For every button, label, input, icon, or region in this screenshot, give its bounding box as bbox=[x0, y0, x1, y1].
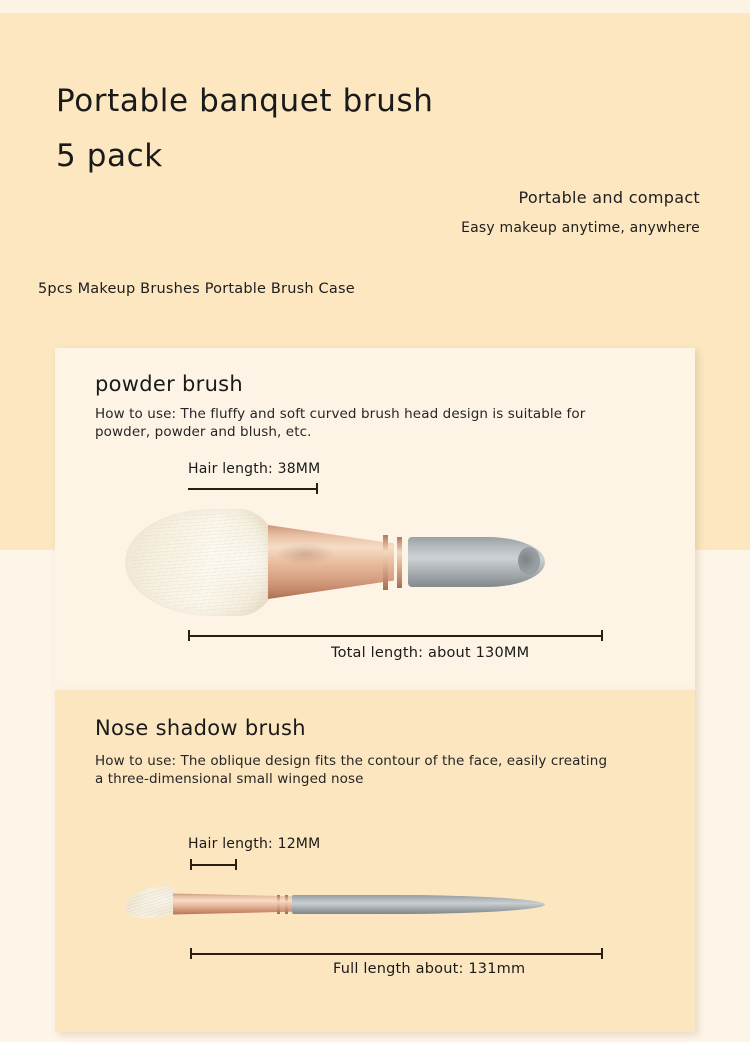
product-card-powder-brush: powder brush How to use: The fluffy and … bbox=[55, 348, 695, 690]
tagline-primary: Portable and compact bbox=[461, 188, 700, 207]
measure-cap-right bbox=[601, 948, 603, 959]
brush-handle bbox=[292, 895, 545, 914]
full-length-label: Full length about: 131mm bbox=[333, 961, 525, 977]
brush-ferrule-ring bbox=[277, 895, 280, 914]
measure-cap-left bbox=[188, 630, 190, 641]
headline-line-1: Portable banquet brush bbox=[56, 86, 433, 117]
hair-length-measure-line bbox=[188, 488, 318, 490]
full-length-measure-line bbox=[190, 953, 603, 955]
measure-cap-right bbox=[601, 630, 603, 641]
brush-ferrule-sheen bbox=[275, 543, 335, 565]
headline-line-2: 5 pack bbox=[56, 141, 433, 172]
measure-cap-left bbox=[190, 859, 192, 870]
total-length-label: Total length: about 130MM bbox=[331, 645, 529, 661]
measure-cap-left bbox=[190, 948, 192, 959]
powder-brush-illustration bbox=[125, 505, 545, 620]
brush-ferrule bbox=[173, 892, 293, 916]
hair-length-label: Hair length: 12MM bbox=[188, 836, 320, 852]
product-subtitle: 5pcs Makeup Brushes Portable Brush Case bbox=[38, 281, 355, 297]
measure-cap-right bbox=[316, 483, 318, 494]
total-length-measure-line bbox=[188, 635, 603, 637]
nose-shadow-brush-illustration bbox=[125, 884, 545, 926]
hair-length-measure-line bbox=[190, 864, 237, 866]
hair-length-label: Hair length: 38MM bbox=[188, 461, 320, 477]
card-title: Nose shadow brush bbox=[95, 716, 306, 740]
brush-ferrule-ring bbox=[285, 895, 288, 914]
brush-handle-tip bbox=[523, 898, 537, 911]
brush-ferrule-ring bbox=[397, 537, 402, 588]
tagline-secondary: Easy makeup anytime, anywhere bbox=[461, 220, 700, 236]
page-title: Portable banquet brush 5 pack bbox=[56, 86, 433, 172]
card-description: How to use: The fluffy and soft curved b… bbox=[95, 406, 615, 442]
product-card-nose-shadow-brush: Nose shadow brush How to use: The obliqu… bbox=[55, 690, 695, 1032]
tagline-block: Portable and compact Easy makeup anytime… bbox=[461, 188, 700, 236]
brush-handle-tip bbox=[518, 547, 540, 575]
brush-ferrule-ring bbox=[383, 535, 388, 590]
background-band-top bbox=[0, 0, 750, 13]
card-description: How to use: The oblique design fits the … bbox=[95, 753, 615, 789]
measure-cap-right bbox=[235, 859, 237, 870]
card-title: powder brush bbox=[95, 372, 243, 396]
